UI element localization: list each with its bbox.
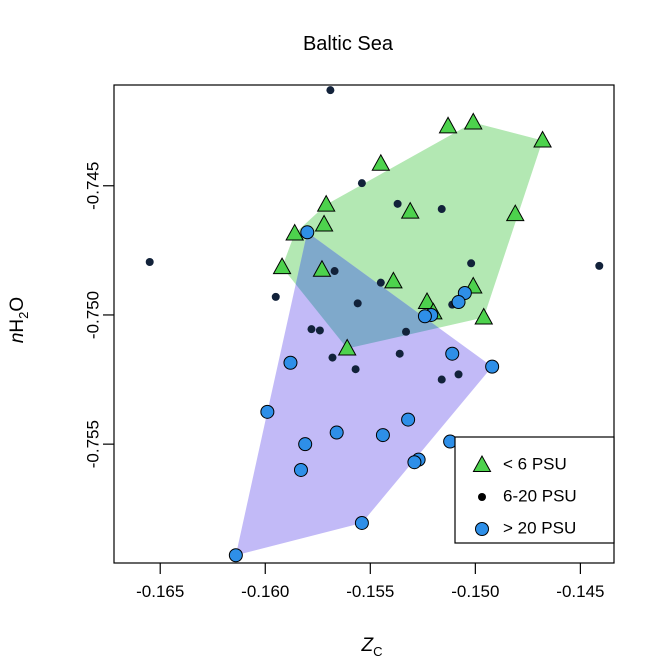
y-axis-title: nH2O (7, 297, 31, 343)
data-point (299, 438, 312, 451)
data-point (261, 405, 274, 418)
data-point (376, 429, 389, 442)
data-point (394, 200, 402, 208)
data-point (455, 370, 463, 378)
y-axis-title-italic: n (7, 333, 28, 344)
chart-container: Baltic Sea -0.165-0.160-0.155-0.150-0.14… (0, 0, 672, 671)
data-point (438, 205, 446, 213)
legend-label: 6-20 PSU (503, 486, 577, 505)
y-tick-label: -0.755 (83, 420, 102, 468)
legend-marker-circle-large (476, 523, 489, 536)
chart-title: Baltic Sea (303, 33, 394, 55)
x-tick-label: -0.145 (556, 582, 604, 601)
data-point (146, 258, 154, 266)
data-point (418, 310, 431, 323)
y-axis-title-subscript: 2 (16, 312, 31, 319)
data-point (486, 360, 499, 373)
data-point (331, 267, 339, 275)
data-point (301, 226, 314, 239)
y-tick-label: -0.745 (83, 162, 102, 210)
data-point (402, 328, 410, 336)
data-point (326, 86, 334, 94)
y-axis-title-main: H (7, 319, 28, 333)
data-point (408, 456, 421, 469)
y-axis-title-tail: O (7, 297, 28, 312)
data-point (438, 376, 446, 384)
x-tick-label: -0.160 (241, 582, 289, 601)
data-point (294, 463, 307, 476)
data-point (595, 262, 603, 270)
y-tick-label: -0.750 (83, 291, 102, 339)
legend-label: > 20 PSU (503, 518, 576, 537)
data-point (352, 365, 360, 373)
data-point (330, 426, 343, 439)
data-point (358, 179, 366, 187)
x-axis-title-subscript: C (373, 644, 382, 659)
data-point (452, 296, 465, 309)
data-point (316, 326, 324, 334)
data-point (284, 356, 297, 369)
scatter-plot: Baltic Sea -0.165-0.160-0.155-0.150-0.14… (0, 0, 672, 671)
data-point (328, 354, 336, 362)
data-point (467, 259, 475, 267)
legend-label: < 6 PSU (503, 454, 567, 473)
data-point (402, 413, 415, 426)
x-tick-label: -0.155 (346, 582, 394, 601)
data-point (307, 325, 315, 333)
legend-marker-circle-small (478, 493, 486, 501)
data-point (354, 299, 362, 307)
x-tick-label: -0.150 (451, 582, 499, 601)
x-tick-label: -0.165 (136, 582, 184, 601)
data-point (355, 516, 368, 529)
data-point (446, 347, 459, 360)
data-point (377, 279, 385, 287)
data-point (272, 293, 280, 301)
legend[interactable]: < 6 PSU6-20 PSU> 20 PSU (455, 437, 614, 543)
data-point (396, 350, 404, 358)
data-point (229, 549, 242, 562)
